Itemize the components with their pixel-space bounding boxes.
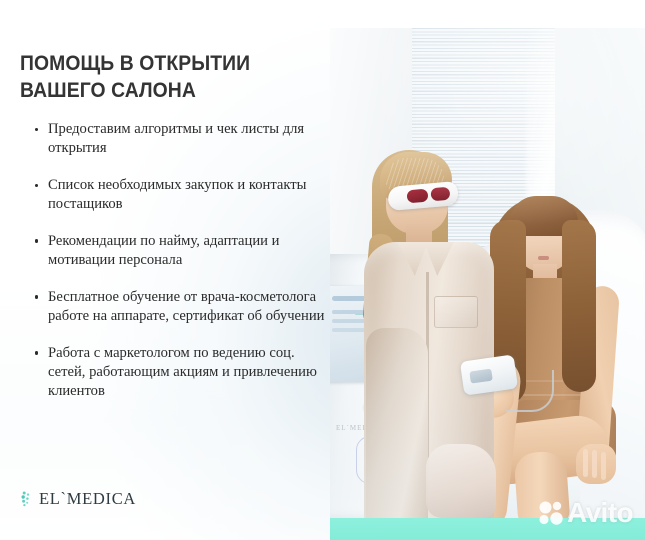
benefits-list: Предоставим алгоритмы и чек листы для от… [34,120,334,401]
brand-logo: EL`MEDICA [20,489,136,509]
list-item: Список необходимых закупок и контакты по… [34,176,334,214]
client-hand [576,444,616,484]
list-item: Работа с маркетологом по ведению соц. се… [34,344,334,401]
uniform-chest-pocket [434,296,478,328]
slide-canvas: ПОМОЩЬ В ОТКРЫТИИ ВАШЕГО САЛОНА Предоста… [0,0,645,540]
list-item: Предоставим алгоритмы и чек листы для от… [34,120,334,158]
list-item-label: Работа с маркетологом по ведению соц. се… [48,345,317,399]
brand-logo-text: EL`MEDICA [39,489,136,509]
bullet-dot-icon [35,128,38,131]
leaf-dots-icon [20,489,35,509]
goggles-lens-left [406,189,428,204]
bullet-dot-icon [35,239,38,242]
clinic-photo: EL`MEDICA [330,28,645,540]
list-item-label: Рекомендации по найму, адаптации и мотив… [48,233,279,268]
practitioner-sleeve [366,328,428,518]
list-item-label: Список необходимых закупок и контакты по… [48,177,306,212]
list-item: Бесплатное обучение от врача-косметолога… [34,288,334,326]
accent-band [330,518,645,540]
practitioner-glove [426,444,496,518]
list-item: Рекомендации по найму, адаптации и мотив… [34,232,334,270]
bullet-dot-icon [35,351,38,354]
list-item-label: Бесплатное обучение от врача-косметолога… [48,289,324,324]
client-hair-strand-right [562,220,596,392]
clinic-photo-scene: EL`MEDICA [330,28,645,518]
client-lips [538,256,549,260]
client-lower-leg [513,450,570,518]
page-title: ПОМОЩЬ В ОТКРЫТИИ ВАШЕГО САЛОНА [20,50,290,102]
goggles-lens-right [430,187,450,202]
bullet-dot-icon [35,184,38,187]
bullet-dot-icon [35,295,38,298]
list-item-label: Предоставим алгоритмы и чек листы для от… [48,121,304,156]
